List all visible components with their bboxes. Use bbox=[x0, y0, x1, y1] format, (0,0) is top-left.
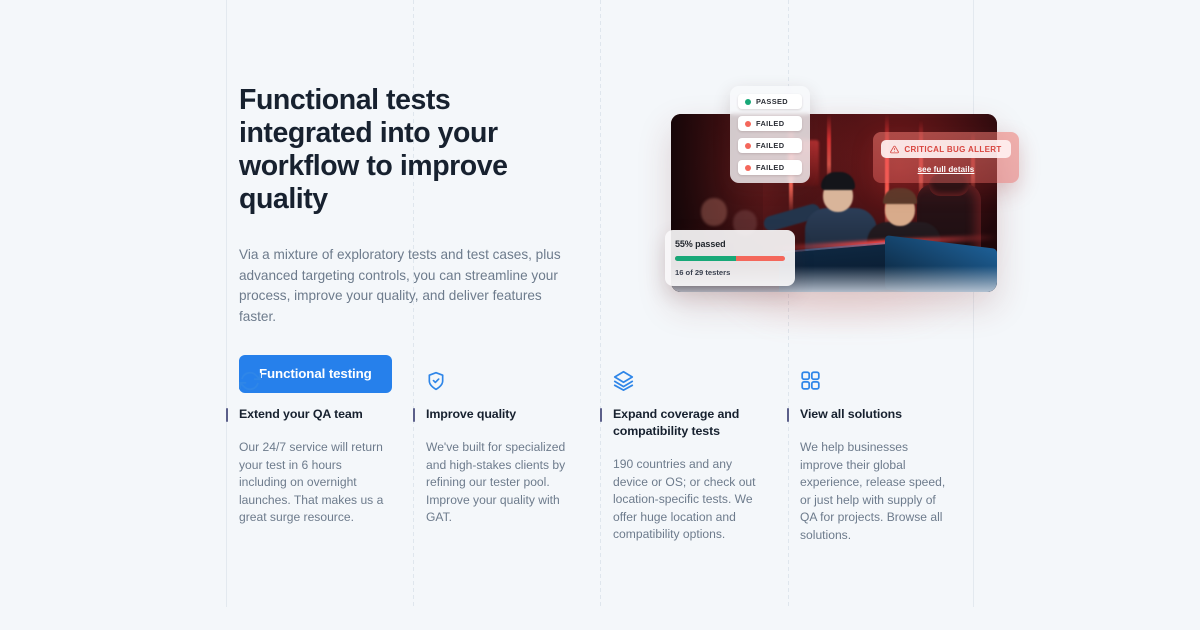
status-badge-label: PASSED bbox=[756, 97, 788, 106]
feature-column-extend-qa-team[interactable]: Extend your QA team Our 24/7 service wil… bbox=[226, 370, 413, 545]
status-dot-icon bbox=[745, 165, 751, 171]
feature-body: Our 24/7 service will return your test i… bbox=[239, 439, 391, 527]
shield-check-icon bbox=[426, 370, 578, 392]
background-person bbox=[701, 198, 727, 226]
feature-title-row: Expand coverage and compatibility tests bbox=[613, 406, 765, 440]
see-full-details-link[interactable]: see full details bbox=[881, 165, 1011, 174]
feature-title-row: Improve quality bbox=[426, 406, 578, 423]
critical-bug-alert-card: CRITICAL BUG ALLERT see full details bbox=[873, 132, 1019, 183]
hero-media: PASSED FAILED FAILED FAILED bbox=[655, 70, 1025, 330]
status-dot-icon bbox=[745, 121, 751, 127]
feature-accent-bar bbox=[226, 408, 228, 422]
feature-title: Extend your QA team bbox=[239, 406, 391, 423]
feature-column-view-all-solutions[interactable]: View all solutions We help businesses im… bbox=[787, 370, 974, 545]
status-dot-icon bbox=[745, 99, 751, 105]
pass-rate-progress-fill bbox=[675, 256, 736, 261]
page-title: Functional tests integrated into your wo… bbox=[239, 84, 579, 216]
tester-beanie bbox=[821, 172, 855, 190]
hero-subtitle: Via a mixture of exploratory tests and t… bbox=[239, 245, 569, 327]
feature-column-improve-quality[interactable]: Improve quality We've built for speciali… bbox=[413, 370, 600, 545]
status-badge[interactable]: FAILED bbox=[738, 160, 802, 175]
tester-hair bbox=[883, 188, 917, 204]
status-badge-label: FAILED bbox=[756, 141, 784, 150]
status-badge-label: FAILED bbox=[756, 163, 784, 172]
status-badge[interactable]: PASSED bbox=[738, 94, 802, 109]
test-status-list: PASSED FAILED FAILED FAILED bbox=[730, 86, 810, 183]
feature-title: Expand coverage and compatibility tests bbox=[613, 406, 765, 440]
pass-rate-card: 55% passed 16 of 29 testers bbox=[665, 230, 795, 286]
feature-title: View all solutions bbox=[800, 406, 952, 423]
feature-body: We help businesses improve their global … bbox=[800, 439, 952, 545]
layers-stack-icon bbox=[613, 370, 765, 392]
feature-accent-bar bbox=[787, 408, 789, 422]
warning-triangle-icon bbox=[890, 145, 899, 154]
feature-title-row: Extend your QA team bbox=[239, 406, 391, 423]
hero-copy: Functional tests integrated into your wo… bbox=[239, 84, 579, 393]
pass-rate-progress-bar bbox=[675, 256, 785, 261]
feature-accent-bar bbox=[600, 408, 602, 422]
grid-squares-icon bbox=[800, 370, 952, 392]
feature-body: 190 countries and any device or OS; or c… bbox=[613, 456, 765, 544]
critical-bug-alert-label: CRITICAL BUG ALLERT bbox=[904, 145, 1001, 154]
landing-section: Functional tests integrated into your wo… bbox=[0, 0, 1200, 630]
status-dot-icon bbox=[745, 143, 751, 149]
feature-body: We've built for specialized and high-sta… bbox=[426, 439, 578, 527]
feature-column-expand-coverage[interactable]: Expand coverage and compatibility tests … bbox=[600, 370, 787, 545]
feature-title: Improve quality bbox=[426, 406, 578, 423]
refresh-sync-icon bbox=[239, 370, 391, 392]
status-badge-label: FAILED bbox=[756, 119, 784, 128]
critical-bug-alert-bar[interactable]: CRITICAL BUG ALLERT bbox=[881, 140, 1011, 158]
feature-columns: Extend your QA team Our 24/7 service wil… bbox=[226, 370, 974, 545]
pass-rate-meta: 16 of 29 testers bbox=[675, 268, 785, 277]
feature-accent-bar bbox=[413, 408, 415, 422]
feature-title-row: View all solutions bbox=[800, 406, 952, 423]
pass-rate-title: 55% passed bbox=[675, 239, 785, 249]
status-badge[interactable]: FAILED bbox=[738, 138, 802, 153]
status-badge[interactable]: FAILED bbox=[738, 116, 802, 131]
